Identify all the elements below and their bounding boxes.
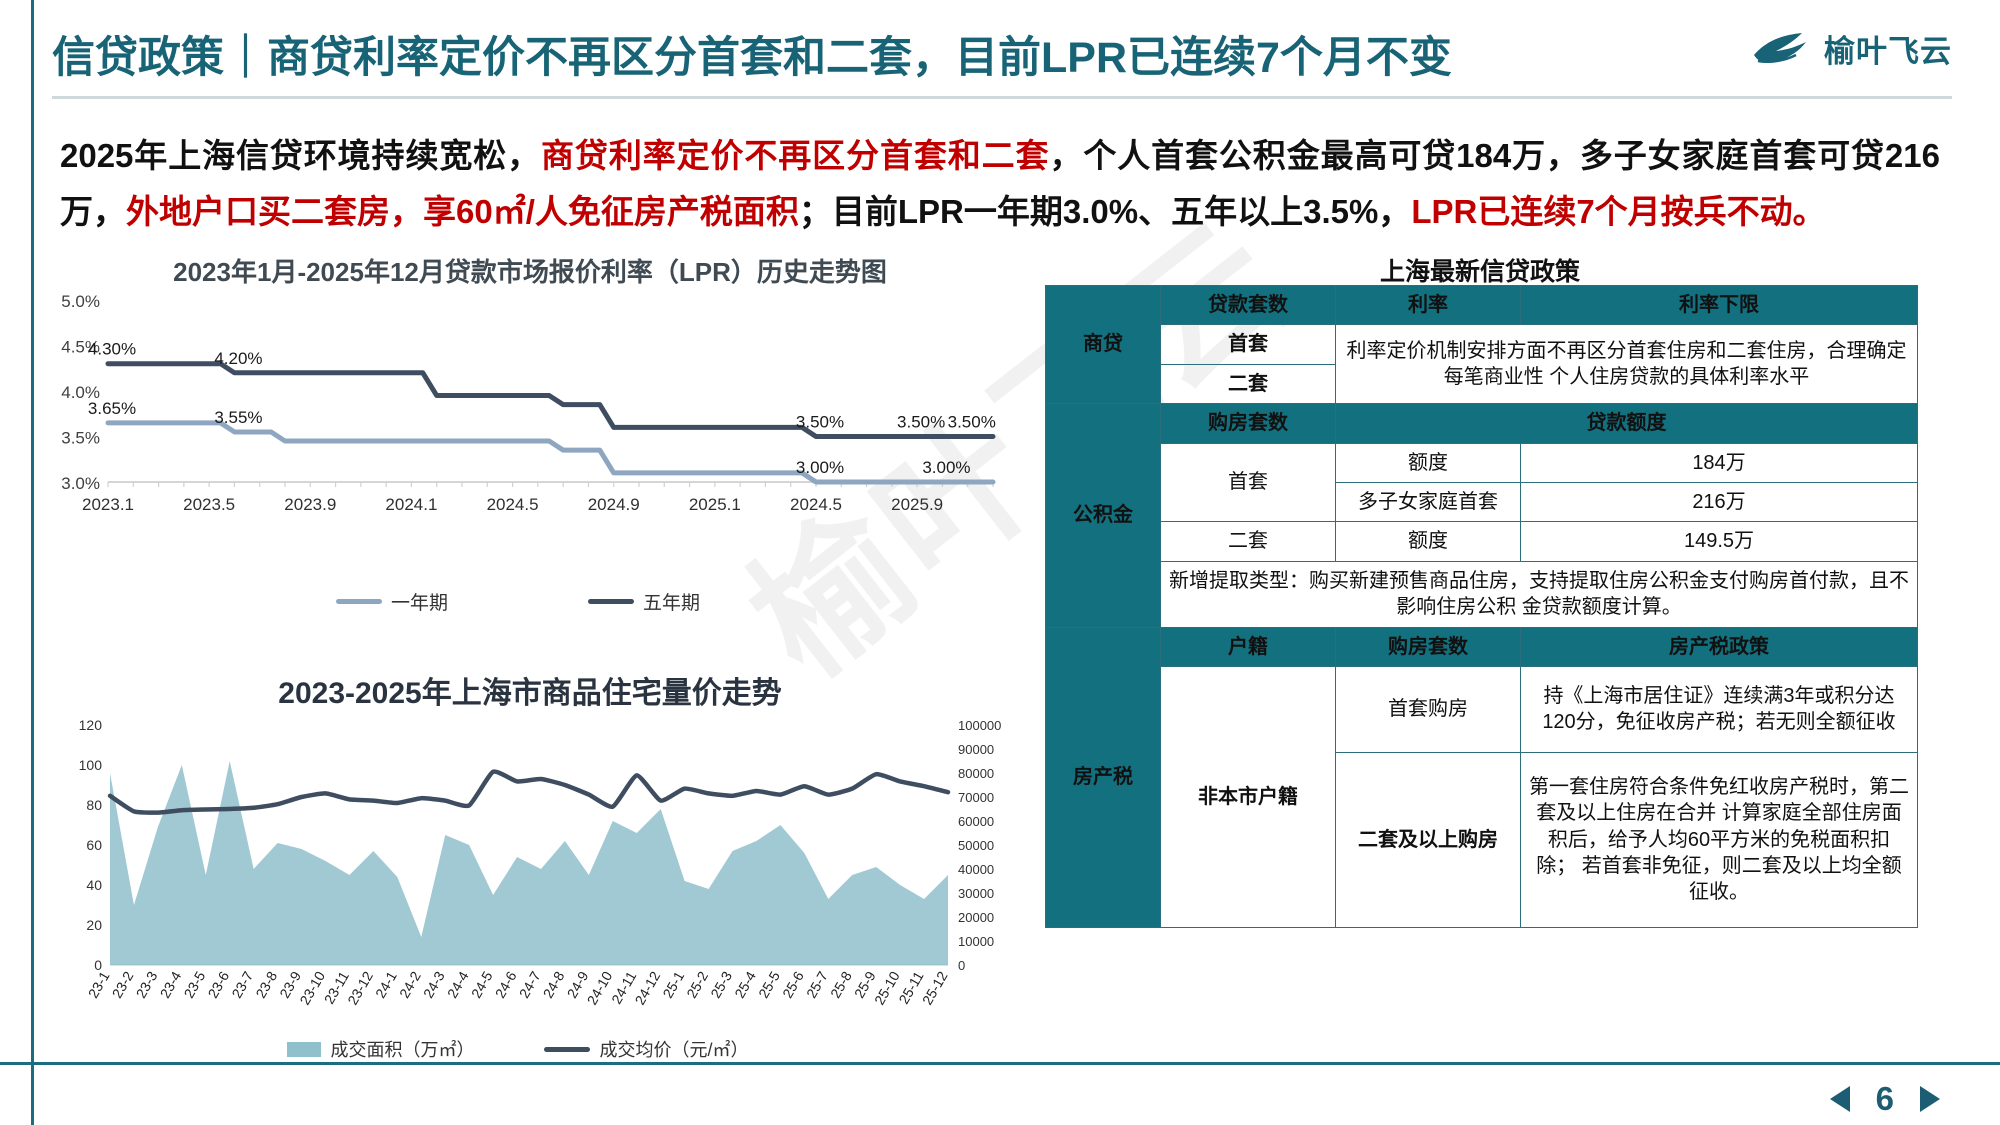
lede-highlight-2: 外地户口买二套房，享60㎡/人免征房产税面积 bbox=[126, 193, 799, 230]
svg-text:23-4: 23-4 bbox=[157, 968, 185, 1000]
table-row: 新增提取类型：购买新建预售商品住房，支持提取住房公积金支付购房首付款，且不影响住… bbox=[1046, 561, 1918, 627]
section-label-fund: 公积金 bbox=[1046, 404, 1161, 627]
svg-text:25-12: 25-12 bbox=[919, 968, 951, 1007]
table-row: 首套 利率定价机制安排方面不再区分首套住房和二套住房，合理确定每笔商业性 个人住… bbox=[1046, 325, 1918, 364]
svg-text:2024.5: 2024.5 bbox=[487, 495, 539, 514]
vp-right-axis-ticks: 0100002000030000400005000060000700008000… bbox=[958, 718, 1001, 973]
svg-text:25-1: 25-1 bbox=[659, 968, 687, 1000]
legend-label-price: 成交均价（元/㎡） bbox=[599, 1036, 748, 1062]
slide-header: 信贷政策｜商贷利率定价不再区分首套和二套，目前LPR已连续7个月不变 bbox=[52, 30, 1952, 92]
legend-label-1y: 一年期 bbox=[391, 588, 448, 615]
volume-price-chart: 020406080100120 010000200003000040000500… bbox=[48, 710, 1008, 1055]
col-header-rate-floor: 利率下限 bbox=[1521, 286, 1918, 325]
brand-logo: 榆叶飞云 bbox=[1752, 26, 1952, 71]
triangle-right-icon[interactable] bbox=[1920, 1086, 1940, 1112]
svg-text:24-4: 24-4 bbox=[444, 968, 472, 1000]
svg-text:25-7: 25-7 bbox=[803, 968, 831, 1000]
svg-text:50000: 50000 bbox=[958, 838, 994, 853]
lpr-x-axis-ticks: 2023.12023.52023.92024.12024.52024.92025… bbox=[82, 495, 943, 514]
table-row: 商贷 贷款套数 利率 利率下限 bbox=[1046, 286, 1918, 325]
table-row: 公积金 购房套数 贷款额度 bbox=[1046, 404, 1918, 443]
left-decorative-rail bbox=[0, 0, 34, 1125]
svg-text:10000: 10000 bbox=[958, 934, 994, 949]
svg-text:2023.9: 2023.9 bbox=[284, 495, 336, 514]
legend-item-area: 成交面积（万㎡） bbox=[287, 1036, 474, 1062]
cell-commercial-rate-note: 利率定价机制安排方面不再区分首套住房和二套住房，合理确定每笔商业性 个人住房贷款… bbox=[1336, 325, 1918, 404]
lede-seg-5: ；目前LPR一年期3.0%、五年以上3.5%， bbox=[799, 193, 1411, 230]
page-number: 6 bbox=[1876, 1080, 1894, 1118]
svg-text:24-2: 24-2 bbox=[396, 968, 424, 1000]
svg-text:24-3: 24-3 bbox=[420, 968, 448, 1000]
svg-text:2024.1: 2024.1 bbox=[385, 495, 437, 514]
legend-swatch-5y bbox=[588, 599, 634, 604]
cell-fund-first-home: 首套 bbox=[1161, 443, 1336, 522]
svg-text:60: 60 bbox=[86, 837, 102, 853]
col-header-loan-count: 贷款套数 bbox=[1161, 286, 1336, 325]
svg-text:25-5: 25-5 bbox=[755, 968, 783, 1000]
svg-text:20: 20 bbox=[86, 917, 102, 933]
svg-text:24-1: 24-1 bbox=[372, 968, 400, 1000]
svg-text:2024.9: 2024.9 bbox=[588, 495, 640, 514]
header-divider bbox=[52, 96, 1952, 99]
svg-text:100000: 100000 bbox=[958, 718, 1001, 733]
svg-text:24-8: 24-8 bbox=[540, 968, 568, 1000]
table-row: 首套 额度 184万 bbox=[1046, 443, 1918, 482]
cell-fund-quota-label-1: 额度 bbox=[1336, 443, 1521, 482]
svg-text:3.50%: 3.50% bbox=[897, 413, 945, 432]
cell-second-home: 二套 bbox=[1161, 364, 1336, 403]
svg-text:2023.1: 2023.1 bbox=[82, 495, 134, 514]
page-title: 信贷政策｜商贷利率定价不再区分首套和二套，目前LPR已连续7个月不变 bbox=[52, 30, 1952, 86]
svg-text:60000: 60000 bbox=[958, 814, 994, 829]
svg-text:23-7: 23-7 bbox=[228, 968, 256, 1000]
svg-text:25-4: 25-4 bbox=[731, 968, 759, 1000]
col-header-rate: 利率 bbox=[1336, 286, 1521, 325]
svg-text:23-1: 23-1 bbox=[85, 968, 113, 1000]
section-label-commercial: 商贷 bbox=[1046, 286, 1161, 404]
volume-price-chart-legend: 成交面积（万㎡） 成交均价（元/㎡） bbox=[48, 1036, 988, 1062]
svg-text:70000: 70000 bbox=[958, 790, 994, 805]
bird-logo-icon bbox=[1752, 29, 1814, 69]
lede-seg-1: 2025年上海信贷环境持续宽松， bbox=[60, 137, 541, 174]
lpr-data-labels: 3.65%3.55%3.00%3.00%4.30%4.20%3.50%3.50%… bbox=[88, 340, 996, 477]
cell-fund-quota-2: 216万 bbox=[1521, 482, 1918, 521]
svg-text:80000: 80000 bbox=[958, 766, 994, 781]
svg-text:24-7: 24-7 bbox=[516, 968, 544, 1000]
cell-nonlocal-hukou: 非本市户籍 bbox=[1161, 666, 1336, 927]
svg-text:23-12: 23-12 bbox=[344, 968, 376, 1007]
svg-text:3.0%: 3.0% bbox=[61, 474, 100, 493]
svg-text:25-6: 25-6 bbox=[779, 968, 807, 1000]
cell-tax-second-policy: 第一套住房符合条件免红收房产税时，第二套及以上住房在合并 计算家庭全部住房面积后… bbox=[1521, 752, 1918, 927]
svg-text:3.5%: 3.5% bbox=[61, 429, 100, 448]
legend-swatch-price bbox=[544, 1047, 590, 1052]
svg-text:23-6: 23-6 bbox=[204, 968, 232, 1000]
policy-table: 商贷 贷款套数 利率 利率下限 首套 利率定价机制安排方面不再区分首套住房和二套… bbox=[1045, 285, 1918, 928]
svg-text:5.0%: 5.0% bbox=[61, 292, 100, 311]
policy-table-title: 上海最新信贷政策 bbox=[1040, 252, 1920, 288]
svg-text:3.65%: 3.65% bbox=[88, 399, 136, 418]
cell-fund-quota-label-2: 额度 bbox=[1336, 522, 1521, 561]
svg-text:24-5: 24-5 bbox=[468, 968, 496, 1000]
cell-tax-second-purchase: 二套及以上购房 bbox=[1336, 752, 1521, 927]
cell-tax-first-policy: 持《上海市居住证》连续满3年或积分达120分，免征收房产税；若无则全额征收 bbox=[1521, 666, 1918, 752]
svg-text:23-10: 23-10 bbox=[296, 968, 328, 1007]
svg-text:2024.5: 2024.5 bbox=[790, 495, 842, 514]
legend-item-5y: 五年期 bbox=[588, 588, 700, 615]
lede-highlight-3: LPR已连续7个月按兵不动。 bbox=[1411, 193, 1825, 230]
legend-swatch-area bbox=[287, 1042, 321, 1057]
cell-first-home: 首套 bbox=[1161, 325, 1336, 364]
svg-text:3.55%: 3.55% bbox=[214, 408, 262, 427]
svg-text:0: 0 bbox=[958, 958, 965, 973]
svg-text:2025.1: 2025.1 bbox=[689, 495, 741, 514]
table-row: 非本市户籍 首套购房 持《上海市居住证》连续满3年或积分达120分，免征收房产税… bbox=[1046, 666, 1918, 752]
svg-text:40: 40 bbox=[86, 877, 102, 893]
lpr-y-axis-ticks: 5.0%4.5%4.0%3.5%3.0% bbox=[61, 292, 100, 493]
svg-text:40000: 40000 bbox=[958, 862, 994, 877]
svg-text:23-3: 23-3 bbox=[133, 968, 161, 1000]
section-label-property-tax: 房产税 bbox=[1046, 627, 1161, 927]
vp-x-axis-labels: 23-123-223-323-423-523-623-723-823-923-1… bbox=[85, 968, 951, 1007]
svg-text:100: 100 bbox=[79, 757, 103, 773]
lede-highlight-1: 商贷利率定价不再区分首套和二套 bbox=[541, 137, 1049, 174]
svg-text:25-10: 25-10 bbox=[871, 968, 903, 1007]
lpr-chart-legend: 一年期 五年期 bbox=[48, 588, 988, 615]
legend-item-price: 成交均价（元/㎡） bbox=[544, 1036, 748, 1062]
svg-text:2023.5: 2023.5 bbox=[183, 495, 235, 514]
svg-text:30000: 30000 bbox=[958, 886, 994, 901]
svg-text:20000: 20000 bbox=[958, 910, 994, 925]
svg-text:4.30%: 4.30% bbox=[88, 340, 136, 359]
svg-text:2025.9: 2025.9 bbox=[891, 495, 943, 514]
legend-item-1y: 一年期 bbox=[336, 588, 448, 615]
col-header-tax-policy: 房产税政策 bbox=[1521, 627, 1918, 666]
table-row: 二套 额度 149.5万 bbox=[1046, 522, 1918, 561]
svg-text:120: 120 bbox=[79, 717, 103, 733]
cell-fund-quota-3: 149.5万 bbox=[1521, 522, 1918, 561]
svg-text:3.00%: 3.00% bbox=[922, 458, 970, 477]
svg-text:3.00%: 3.00% bbox=[796, 458, 844, 477]
svg-text:24-10: 24-10 bbox=[584, 968, 616, 1007]
cell-tax-first-purchase: 首套购房 bbox=[1336, 666, 1521, 752]
svg-text:80: 80 bbox=[86, 797, 102, 813]
svg-text:90000: 90000 bbox=[958, 742, 994, 757]
svg-text:23-5: 23-5 bbox=[180, 968, 208, 1000]
volume-price-chart-title: 2023-2025年上海市商品住宅量价走势 bbox=[60, 668, 1000, 712]
triangle-left-icon[interactable] bbox=[1830, 1086, 1850, 1112]
brand-name: 榆叶飞云 bbox=[1824, 26, 1952, 71]
svg-text:24-12: 24-12 bbox=[632, 968, 664, 1007]
svg-text:4.20%: 4.20% bbox=[214, 349, 262, 368]
vp-left-axis-ticks: 020406080100120 bbox=[79, 717, 103, 973]
cell-fund-note: 新增提取类型：购买新建预售商品住房，支持提取住房公积金支付购房首付款，且不影响住… bbox=[1161, 561, 1918, 627]
bottom-rule bbox=[0, 1062, 2000, 1065]
slide-footer: 6 bbox=[1830, 1080, 1940, 1118]
svg-text:3.50%: 3.50% bbox=[796, 413, 844, 432]
col-header-loan-amount: 贷款额度 bbox=[1336, 404, 1918, 443]
legend-label-area: 成交面积（万㎡） bbox=[330, 1036, 474, 1062]
cell-fund-multichild-label: 多子女家庭首套 bbox=[1336, 482, 1521, 521]
col-header-purchase-count-2: 购房套数 bbox=[1336, 627, 1521, 666]
svg-text:23-8: 23-8 bbox=[252, 968, 280, 1000]
col-header-hukou: 户籍 bbox=[1161, 627, 1336, 666]
table-row: 房产税 户籍 购房套数 房产税政策 bbox=[1046, 627, 1918, 666]
svg-text:23-2: 23-2 bbox=[109, 968, 137, 1000]
cell-fund-second-home: 二套 bbox=[1161, 522, 1336, 561]
cell-fund-quota-1: 184万 bbox=[1521, 443, 1918, 482]
svg-text:3.50%: 3.50% bbox=[948, 413, 996, 432]
legend-label-5y: 五年期 bbox=[643, 588, 700, 615]
lpr-chart: 5.0%4.5%4.0%3.5%3.0% 2023.12023.52023.92… bbox=[48, 282, 1008, 522]
legend-swatch-1y bbox=[336, 599, 382, 604]
svg-text:25-8: 25-8 bbox=[827, 968, 855, 1000]
summary-paragraph: 2025年上海信贷环境持续宽松，商贷利率定价不再区分首套和二套，个人首套公积金最… bbox=[60, 128, 1940, 240]
svg-text:25-3: 25-3 bbox=[707, 968, 735, 1000]
svg-text:24-6: 24-6 bbox=[492, 968, 520, 1000]
svg-text:25-2: 25-2 bbox=[683, 968, 711, 1000]
col-header-purchase-count: 购房套数 bbox=[1161, 404, 1336, 443]
